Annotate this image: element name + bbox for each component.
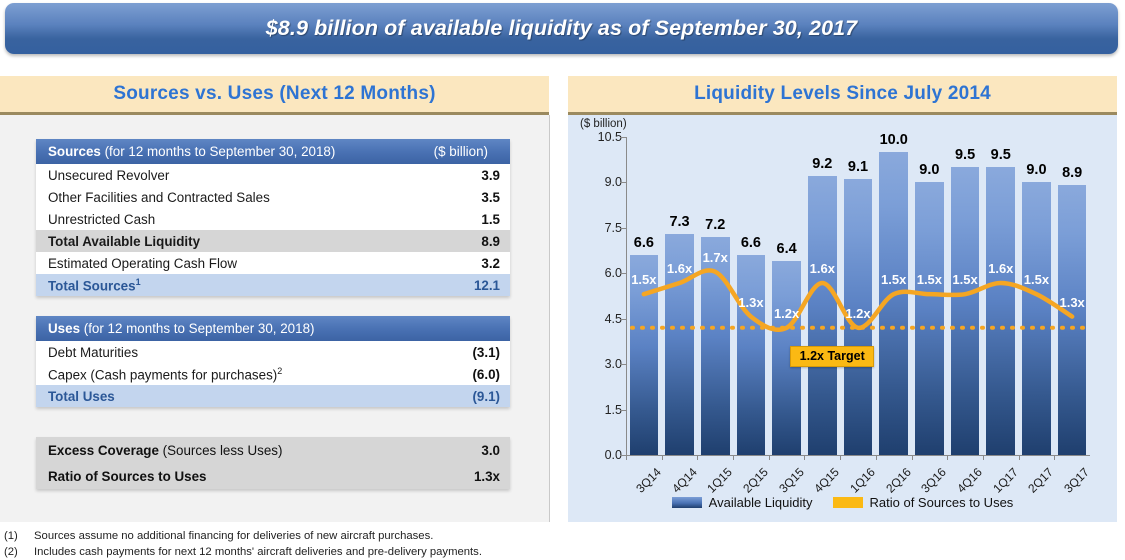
row-value: 3.9 [444,168,500,183]
x-axis-tick-mark [840,455,841,460]
left-panel-title: Sources vs. Uses (Next 12 Months) [113,83,435,105]
y-axis-tick: 10.5 [582,130,622,144]
uses-header-bold: Uses [48,321,80,336]
row-label: Total Sources1 [48,277,444,293]
row-label: Total Available Liquidity [48,234,444,249]
row-value: (9.1) [444,389,500,404]
summary-row: Excess Coverage (Sources less Uses)3.0 [36,437,510,463]
x-axis-tick-mark [626,455,627,460]
row-value: (3.1) [444,345,500,360]
x-axis-tick-mark [1054,455,1055,460]
ratio-value-label: 1.3x [1048,295,1096,310]
sources-header-bold: Sources [48,144,101,159]
legend-label: Ratio of Sources to Uses [870,495,1014,510]
summary-row-value: 3.0 [444,443,500,458]
sources-header-label: Sources (for 12 months to September 30, … [48,144,500,159]
ratio-value-label: 1.2x [763,306,811,321]
legend-label: Available Liquidity [709,495,813,510]
row-label: Total Uses [48,389,444,404]
liquidity-chart: ($ billion) 0.01.53.04.56.07.59.010.5 6.… [568,115,1117,522]
row-label: Unsecured Revolver [48,168,444,183]
uses-table-header: Uses (for 12 months to September 30, 201… [36,316,510,341]
left-panel-body: Sources (for 12 months to September 30, … [0,115,549,522]
row-label: Unrestricted Cash [48,212,444,227]
x-axis-tick-mark [769,455,770,460]
row-value: 12.1 [444,278,500,293]
panel-divider [549,115,550,522]
table-row: Other Facilities and Contracted Sales3.5 [36,186,510,208]
summary-row-value: 1.3x [444,469,500,484]
row-value: 8.9 [444,234,500,249]
table-row: Total Available Liquidity8.9 [36,230,510,252]
table-row: Capex (Cash payments for purchases)2(6.0… [36,363,510,385]
footnote-text: Sources assume no additional financing f… [34,530,700,542]
summary-row-label: Excess Coverage (Sources less Uses) [48,443,444,458]
y-axis-tick: 6.0 [582,266,622,280]
footnote-text: Includes cash payments for next 12 month… [34,546,700,558]
y-axis-tick: 4.5 [582,312,622,326]
y-axis-tick-group: 0.01.53.04.56.07.59.010.5 [570,115,622,522]
row-value: (6.0) [444,367,500,382]
table-row: Estimated Operating Cash Flow3.2 [36,252,510,274]
table-row: Unrestricted Cash1.5 [36,208,510,230]
legend-item[interactable]: Ratio of Sources to Uses [833,495,1014,510]
table-row: Unsecured Revolver3.9 [36,164,510,186]
footnotes: (1)Sources assume no additional financin… [0,528,700,560]
row-value: 3.2 [444,256,500,271]
uses-header-label: Uses (for 12 months to September 30, 201… [48,321,500,336]
ratio-value-label: 1.6x [798,261,846,276]
footnote-marker: 1 [136,277,141,287]
right-panel-body: ($ billion) 0.01.53.04.56.07.59.010.5 6.… [568,115,1117,522]
x-axis-tick-mark [876,455,877,460]
uses-table: Uses (for 12 months to September 30, 201… [36,316,510,407]
right-panel-header: Liquidity Levels Since July 2014 [568,76,1117,115]
x-axis-tick-mark [804,455,805,460]
y-axis-tick: 3.0 [582,357,622,371]
summary-row-label: Ratio of Sources to Uses [48,469,444,484]
left-panel-header: Sources vs. Uses (Next 12 Months) [0,76,549,115]
legend-swatch [672,497,702,508]
footnote-number: (1) [0,530,34,542]
ratio-value-label: 1.2x [834,306,882,321]
row-label: Debt Maturities [48,345,444,360]
row-value: 3.5 [444,190,500,205]
footnote: (1)Sources assume no additional financin… [0,528,700,544]
sources-table-header: Sources (for 12 months to September 30, … [36,139,510,164]
x-axis-tick-mark [912,455,913,460]
sources-table: Sources (for 12 months to September 30, … [36,139,510,296]
y-axis-tick: 7.5 [582,221,622,235]
x-axis-tick-mark [733,455,734,460]
footnote-number: (2) [0,546,34,558]
chart-legend: Available LiquidityRatio of Sources to U… [568,495,1117,510]
ratio-value-label: 1.7x [691,250,739,265]
target-annotation: 1.2x Target [790,346,874,367]
summary-row: Ratio of Sources to Uses1.3x [36,463,510,489]
page-title: $8.9 billion of available liquidity as o… [266,16,858,41]
legend-item[interactable]: Available Liquidity [672,495,813,510]
x-axis-line [626,455,1090,456]
row-label: Other Facilities and Contracted Sales [48,190,444,205]
plot-area: 6.63Q147.34Q147.21Q156.62Q156.43Q159.24Q… [626,137,1090,455]
table-row: Debt Maturities(3.1) [36,341,510,363]
x-axis-tick-mark [662,455,663,460]
sources-header-light: (for 12 months to September 30, 2018) [101,144,335,159]
uses-header-light: (for 12 months to September 30, 2018) [80,321,314,336]
legend-swatch [833,497,863,508]
x-axis-tick-mark [697,455,698,460]
footnote: (2)Includes cash payments for next 12 mo… [0,544,700,560]
summary-table: Excess Coverage (Sources less Uses)3.0Ra… [36,437,510,489]
x-axis-tick-mark [947,455,948,460]
x-axis-tick-mark [1019,455,1020,460]
footnote-marker: 2 [277,366,282,376]
table-row: Total Uses(9.1) [36,385,510,407]
y-axis-tick: 0.0 [582,448,622,462]
ratio-line-overlay [626,137,1090,455]
row-value: 1.5 [444,212,500,227]
ratio-value-label: 1.5x [1012,272,1060,287]
y-axis-tick: 9.0 [582,175,622,189]
table-row: Total Sources112.1 [36,274,510,296]
slide: $8.9 billion of available liquidity as o… [0,0,1125,560]
uses-row-group: Debt Maturities(3.1)Capex (Cash payments… [36,341,510,407]
slide-title-banner: $8.9 billion of available liquidity as o… [5,3,1118,54]
sources-row-group: Unsecured Revolver3.9Other Facilities an… [36,164,510,296]
right-panel-title: Liquidity Levels Since July 2014 [694,83,991,105]
x-axis-tick-mark [983,455,984,460]
row-label: Capex (Cash payments for purchases)2 [48,366,444,382]
y-axis-tick: 1.5 [582,403,622,417]
sources-unit-label: ($ billion) [434,144,488,159]
row-label: Estimated Operating Cash Flow [48,256,444,271]
ratio-line [644,270,1072,329]
